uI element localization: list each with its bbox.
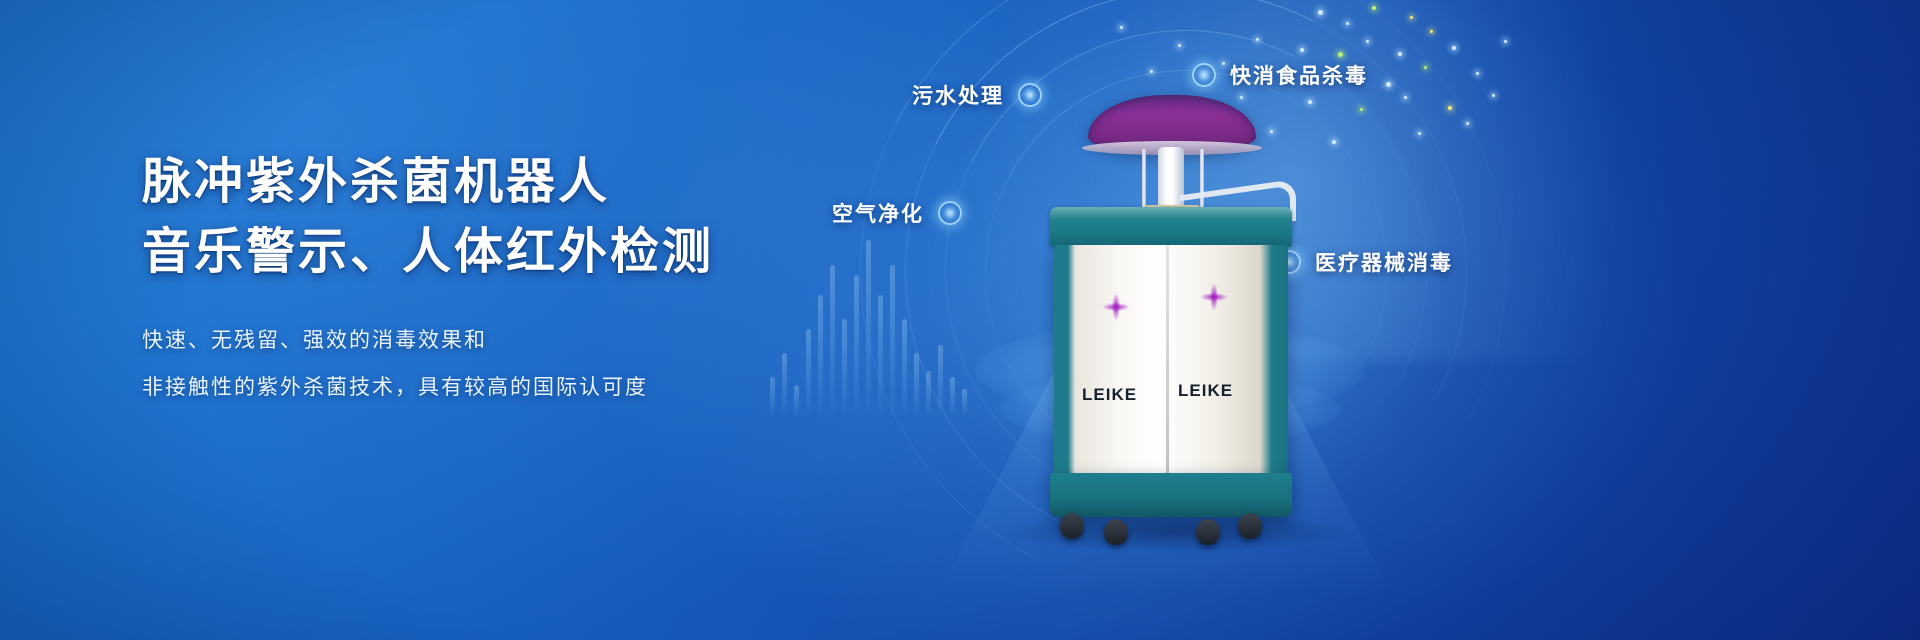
- cabinet-panel-seam: [1166, 245, 1169, 477]
- particle-dot: [1300, 48, 1304, 52]
- particle-dot: [1366, 40, 1369, 43]
- caster-wheel: [1196, 519, 1220, 545]
- particle-dot: [1492, 94, 1495, 97]
- particle-dot: [1318, 10, 1323, 15]
- callout-label: 空气净化: [832, 198, 924, 228]
- particle-dot: [1346, 22, 1349, 25]
- particle-dot: [1448, 106, 1452, 110]
- sub-line-1: 快速、无残留、强效的消毒效果和: [142, 327, 862, 354]
- particle-dot: [1372, 6, 1376, 10]
- particle-dot: [1386, 82, 1391, 87]
- node-marker-icon: [1192, 63, 1216, 87]
- lamp-support-rod: [1142, 149, 1146, 211]
- particle-dot: [1476, 72, 1479, 75]
- cabinet-top-highlight: [1050, 207, 1292, 219]
- particle-dot: [1504, 40, 1507, 43]
- waveform-bar: [950, 377, 955, 415]
- particle-dot: [1150, 70, 1153, 73]
- waveform-bar: [914, 353, 919, 415]
- sparkle-icon: [1194, 277, 1234, 317]
- cabinet-body: [1054, 245, 1288, 477]
- waveform-bar: [866, 240, 871, 415]
- particle-dot: [1424, 66, 1427, 69]
- particle-dot: [1430, 30, 1433, 33]
- hero-banner: 脉冲紫外杀菌机器人 音乐警示、人体红外检测 快速、无残留、强效的消毒效果和 非接…: [0, 0, 1920, 640]
- particle-dot: [1360, 108, 1363, 111]
- waveform-bar: [926, 371, 931, 415]
- sub-line-2: 非接触性的紫外杀菌技术，具有较高的国际认可度: [142, 374, 862, 401]
- product-shadow: [1000, 512, 1350, 552]
- waveform-bar: [938, 345, 943, 415]
- waveform-bar: [962, 389, 967, 415]
- particle-dot: [1410, 16, 1413, 19]
- particle-dot: [1178, 44, 1181, 47]
- waveform-bar: [878, 295, 883, 415]
- particle-dot: [1338, 52, 1343, 57]
- callout-food-disinfection: 快消食品杀毒: [1192, 60, 1368, 90]
- particle-dot: [1120, 26, 1123, 29]
- caster-wheel: [1104, 519, 1128, 545]
- particle-dot: [1452, 46, 1456, 50]
- particle-dot: [1418, 132, 1421, 135]
- brand-logo-right: LEIKE: [1178, 381, 1233, 401]
- sparkle-icon: [1096, 287, 1136, 327]
- callout-label: 污水处理: [912, 80, 1004, 110]
- node-marker-icon: [938, 201, 962, 225]
- particle-dot: [1404, 96, 1407, 99]
- particle-dot: [1332, 140, 1336, 144]
- waveform-bar: [890, 265, 895, 415]
- particle-dot: [1466, 122, 1469, 125]
- headline-line-1: 脉冲紫外杀菌机器人: [142, 148, 862, 218]
- product-image-uv-robot: LEIKE LEIKE: [1020, 95, 1320, 515]
- waveform-bar: [902, 319, 907, 415]
- particle-dot: [1398, 52, 1402, 56]
- copy-spacer: [142, 287, 862, 323]
- callout-label: 医疗器械消毒: [1315, 247, 1453, 277]
- callout-air-purification: 空气净化: [832, 198, 962, 228]
- caster-wheel: [1060, 513, 1084, 539]
- particle-dot: [1256, 38, 1259, 41]
- copy-block: 脉冲紫外杀菌机器人 音乐警示、人体红外检测 快速、无残留、强效的消毒效果和 非接…: [142, 148, 862, 402]
- brand-logo-left: LEIKE: [1082, 385, 1137, 405]
- headline-line-2: 音乐警示、人体红外检测: [142, 218, 862, 288]
- callout-label: 快消食品杀毒: [1230, 60, 1368, 90]
- caster-wheel: [1238, 513, 1262, 539]
- cabinet-bottom: [1050, 473, 1292, 517]
